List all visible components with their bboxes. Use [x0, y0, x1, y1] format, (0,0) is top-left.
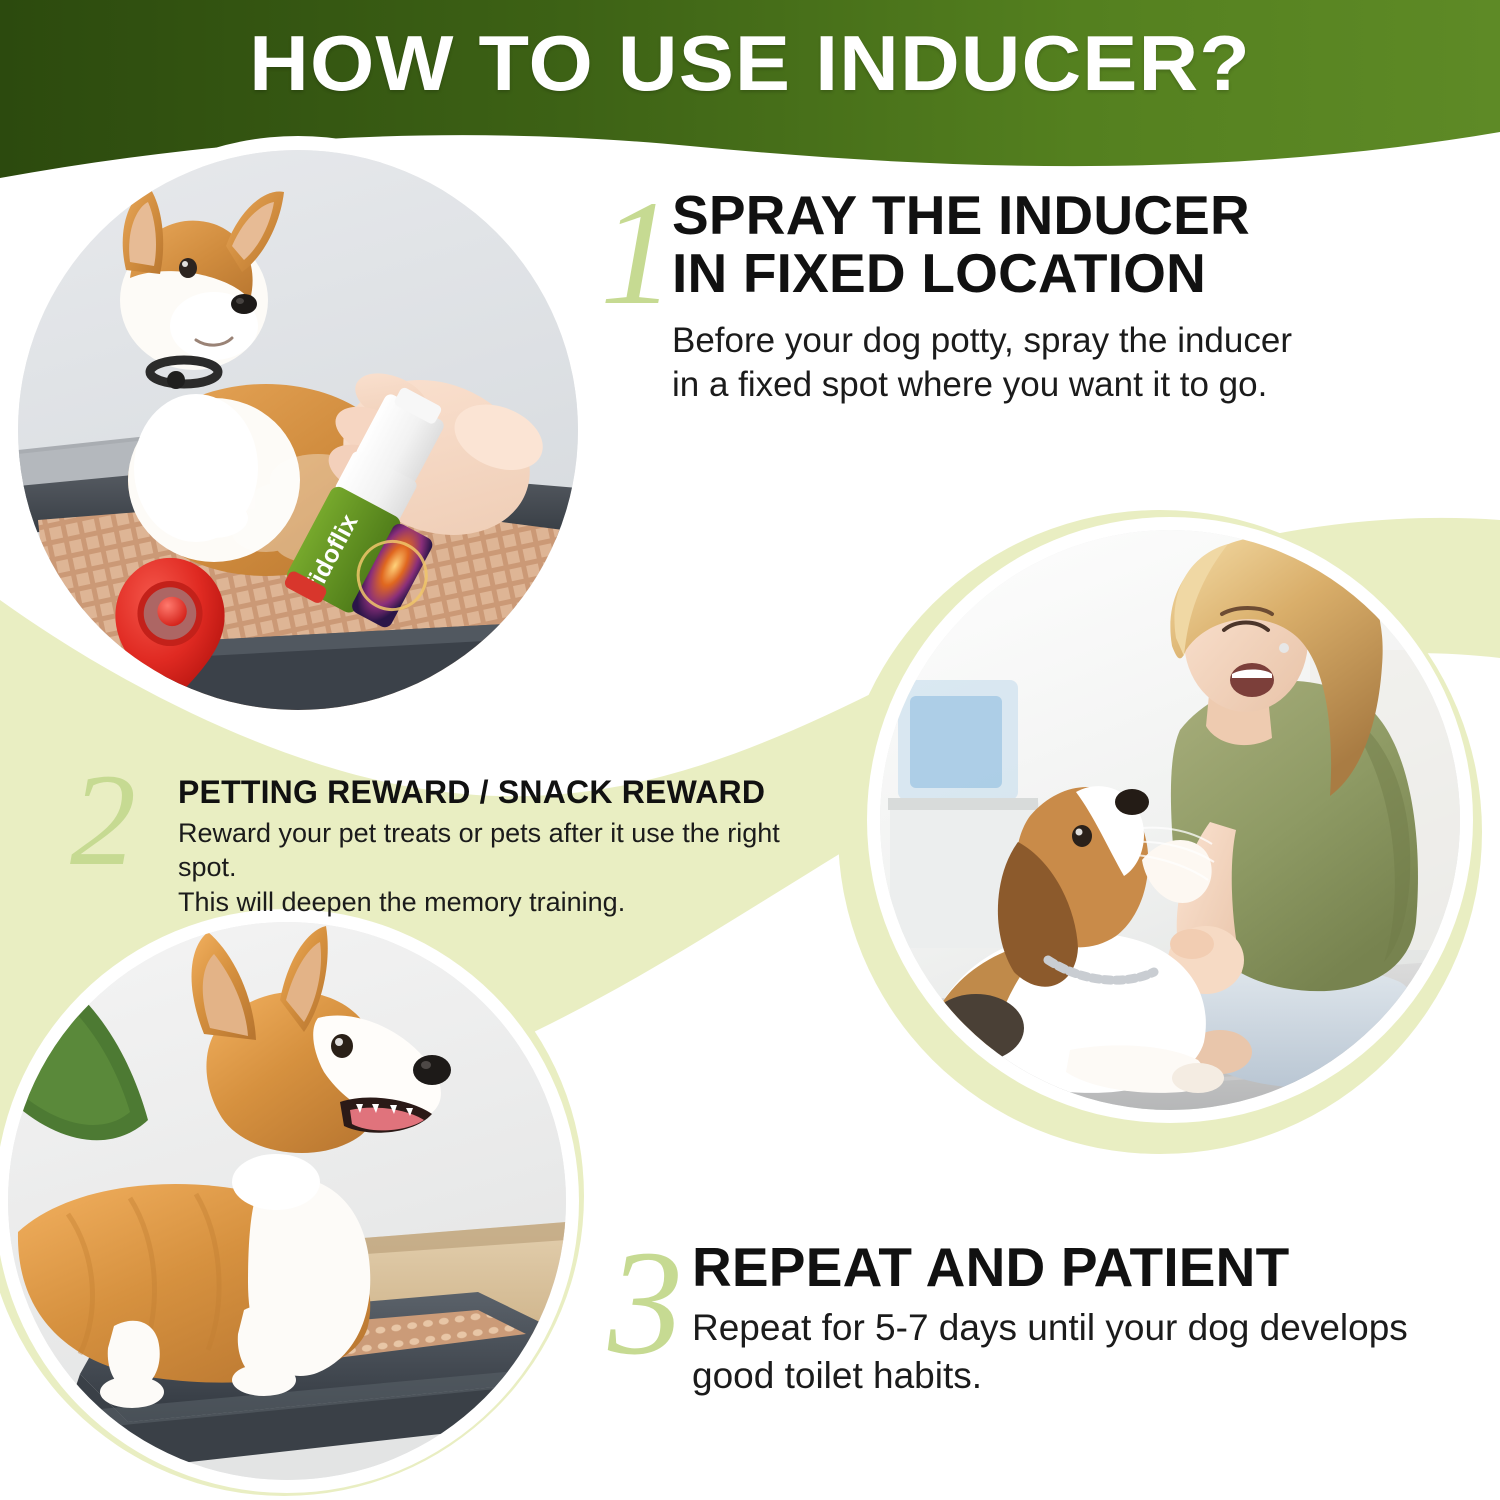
woman-rewarding-beagle-photo [880, 530, 1460, 1110]
step-2-title: PETTING REWARD / SNACK REWARD [178, 776, 838, 810]
step-2-block: 2 PETTING REWARD / SNACK REWARD Reward y… [178, 776, 838, 920]
step-3-body: Repeat for 5-7 days until your dog devel… [692, 1304, 1452, 1399]
header-banner: HOW TO USE INDUCER? [0, 0, 1500, 170]
corgi-spray-bottle-photo: fidoflix [18, 150, 578, 710]
step-1-block: 1 SPRAY THE INDUCER IN FIXED LOCATION Be… [672, 186, 1402, 408]
page-title: HOW TO USE INDUCER? [0, 18, 1500, 109]
step-3-number: 3 [608, 1228, 683, 1378]
corgi-spray-photo-art: fidoflix [18, 150, 578, 710]
corgi-on-potty-tray-photo [8, 922, 566, 1480]
infographic-root: HOW TO USE INDUCER? [0, 0, 1500, 1500]
step-2-body: Reward your pet treats or pets after it … [178, 816, 838, 920]
corgi-tray-photo-art [8, 922, 566, 1480]
step-1-number: 1 [600, 178, 675, 328]
step-3-title: REPEAT AND PATIENT [692, 1238, 1452, 1296]
step-2-number: 2 [70, 754, 136, 886]
step-3-block: 3 REPEAT AND PATIENT Repeat for 5-7 days… [692, 1238, 1452, 1399]
step-1-body: Before your dog potty, spray the inducer… [672, 319, 1402, 409]
woman-beagle-photo-art [880, 530, 1460, 1110]
step-1-title: SPRAY THE INDUCER IN FIXED LOCATION [672, 186, 1402, 303]
